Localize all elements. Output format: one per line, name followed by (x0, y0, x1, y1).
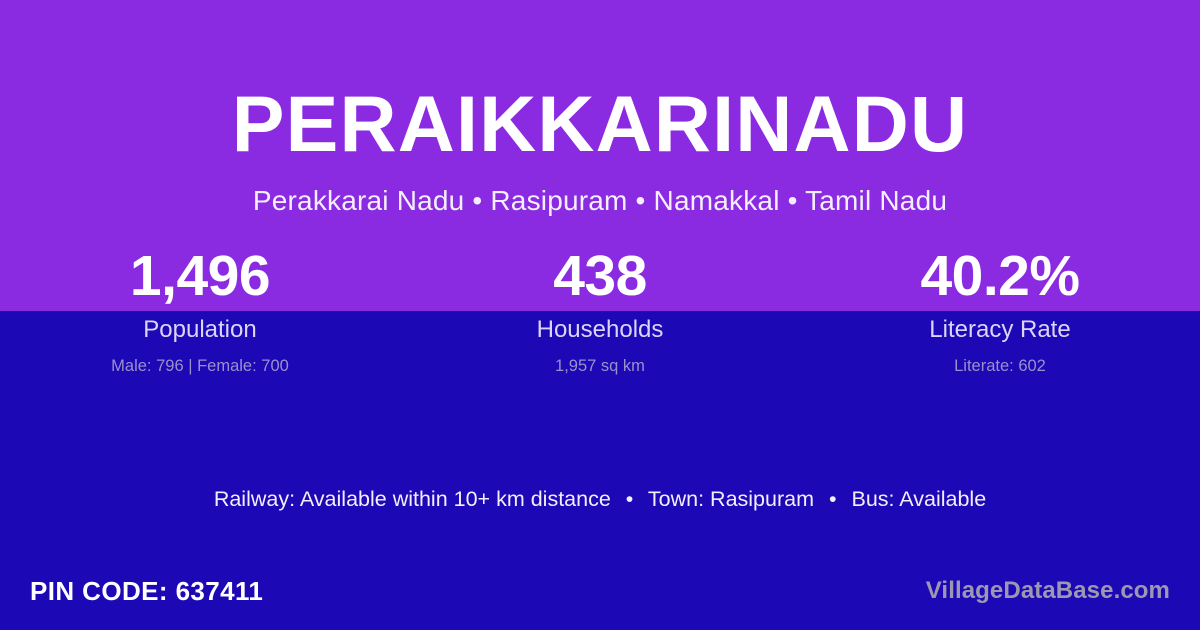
stat-population: 1,496 Population Male: 796 | Female: 700 (0, 246, 400, 377)
infra-separator-2: • (820, 486, 846, 514)
footer: PIN CODE: 637411 VillageDataBase.com (0, 552, 1200, 630)
pin-code: PIN CODE: 637411 (30, 578, 263, 604)
stat-label-literacy-rate: Literacy Rate (800, 314, 1200, 345)
stat-label-households: Households (400, 314, 800, 345)
stat-sub-population: Male: 796 | Female: 700 (0, 356, 400, 377)
stat-sub-literacy-rate: Literate: 602 (800, 356, 1200, 377)
stat-value-population: 1,496 (0, 246, 400, 308)
brand-watermark: VillageDataBase.com (926, 579, 1170, 603)
stat-literacy-rate: 40.2% Literacy Rate Literate: 602 (800, 246, 1200, 377)
stat-value-literacy-rate: 40.2% (800, 246, 1200, 308)
stat-households: 438 Households 1,957 sq km (400, 246, 800, 377)
infrastructure-line: Railway: Available within 10+ km distanc… (0, 486, 1200, 514)
stat-sub-households: 1,957 sq km (400, 356, 800, 377)
infra-separator-1: • (617, 486, 643, 514)
page-title: PERAIKKARINADU (0, 84, 1200, 163)
stats-row: 1,496 Population Male: 796 | Female: 700… (0, 246, 1200, 377)
breadcrumb: Perakkarai Nadu • Rasipuram • Namakkal •… (0, 183, 1200, 218)
infra-town: Town: Rasipuram (648, 487, 814, 511)
infra-bus: Bus: Available (852, 487, 987, 511)
village-info-card: PERAIKKARINADU Perakkarai Nadu • Rasipur… (0, 0, 1200, 630)
stat-label-population: Population (0, 314, 400, 345)
infra-railway: Railway: Available within 10+ km distanc… (214, 487, 611, 511)
stat-value-households: 438 (400, 246, 800, 308)
